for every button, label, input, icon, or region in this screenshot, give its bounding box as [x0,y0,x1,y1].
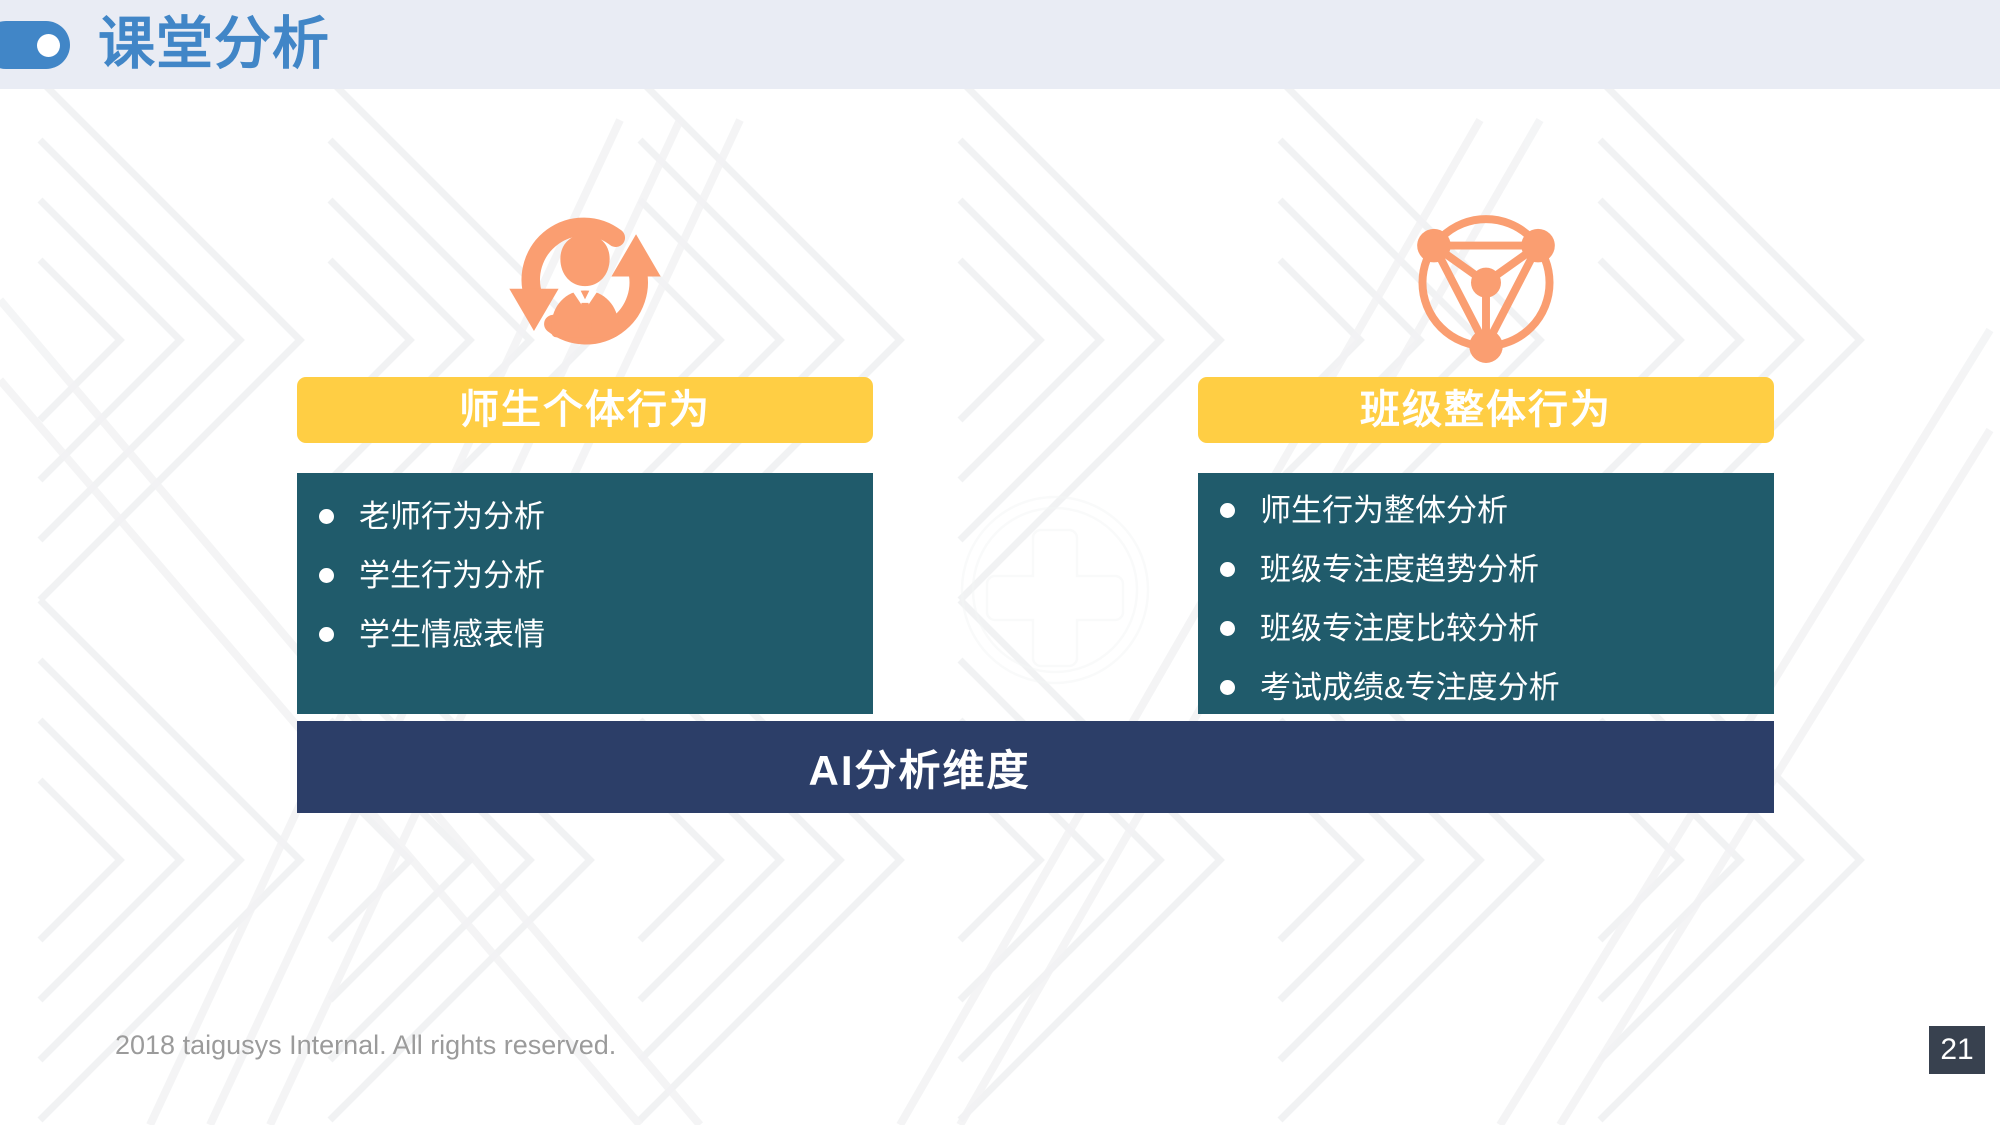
person-cycle-icon [297,185,873,375]
list-item: 考试成绩&专注度分析 [1198,658,1774,717]
column-header-individual: 师生个体行为 [297,377,873,443]
bullet-dot-icon [1220,680,1235,695]
toggle-pill-icon [0,21,70,69]
list-item-label: 班级专注度比较分析 [1260,609,1539,649]
bullet-list-individual: 老师行为分析 学生行为分析 学生情感表情 [297,473,873,714]
bullet-dot-icon [319,627,334,642]
list-item-label: 学生情感表情 [359,615,545,655]
ai-dimension-bar: AI分析维度 [297,721,1774,813]
list-item: 学生情感表情 [297,605,873,664]
bullet-dot-icon [1220,503,1235,518]
bullet-dot-icon [319,568,334,583]
plus-circle-watermark [955,490,1155,690]
network-graph-icon [1198,185,1774,375]
slide-root: 课堂分析 [0,0,2000,1125]
page-title: 课堂分析 [98,7,330,81]
page-number-label: 21 [1940,1026,1973,1074]
page-number-badge: 21 [1929,1026,1985,1074]
list-item-label: 学生行为分析 [359,556,545,596]
list-item: 班级专注度比较分析 [1198,599,1774,658]
bullet-dot-icon [1220,621,1235,636]
column-header-label: 师生个体行为 [459,377,711,443]
list-item: 学生行为分析 [297,546,873,605]
copyright-text: 2018 taigusys Internal. All rights reser… [115,1030,616,1061]
toggle-pill-dot [37,34,60,57]
ai-dimension-label: AI分析维度 [297,721,1542,813]
column-header-label: 班级整体行为 [1360,377,1612,443]
list-item: 师生行为整体分析 [1198,481,1774,540]
list-item: 老师行为分析 [297,487,873,546]
list-item-label: 老师行为分析 [359,497,545,537]
column-header-class: 班级整体行为 [1198,377,1774,443]
bullet-dot-icon [319,509,334,524]
list-item-label: 师生行为整体分析 [1260,491,1508,531]
bullet-list-class: 师生行为整体分析 班级专注度趋势分析 班级专注度比较分析 考试成绩&专注度分析 [1198,473,1774,714]
list-item: 班级专注度趋势分析 [1198,540,1774,599]
list-item-label: 班级专注度趋势分析 [1260,550,1539,590]
bullet-dot-icon [1220,562,1235,577]
list-item-label: 考试成绩&专注度分析 [1260,668,1560,708]
